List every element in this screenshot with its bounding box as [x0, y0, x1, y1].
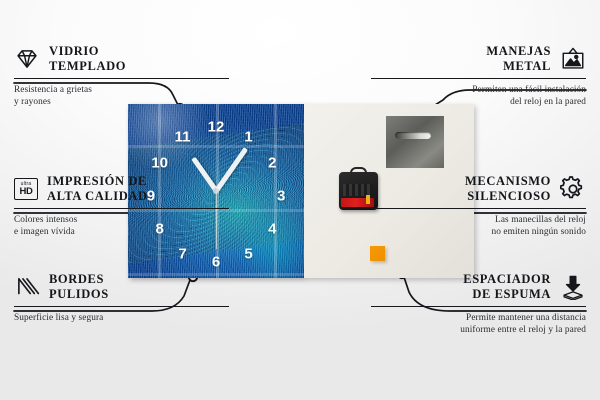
callout-title-line1: BORDES — [49, 272, 109, 287]
ultra-hd-bottom-label: HD — [19, 187, 32, 196]
battery-label — [341, 198, 374, 207]
clock-number-6: 6 — [212, 255, 220, 270]
callout-title-line2: ALTA CALIDAD — [47, 189, 148, 204]
callout-bordes-pulidos: BORDES PULIDOS Superficie lisa y segura — [14, 272, 229, 324]
wall-hanger-icon — [560, 46, 586, 72]
hanger-slot — [395, 132, 431, 139]
callout-description: Superficie lisa y segura — [14, 312, 229, 324]
callout-title-line1: ESPACIADOR — [463, 272, 551, 287]
callout-vidrio-templado: VIDRIO TEMPLADO Resistencia a grietas y … — [14, 44, 229, 109]
clock-number-7: 7 — [178, 246, 186, 261]
callout-desc-line2: uniforme entre el reloj y la pared — [371, 324, 586, 336]
callout-title-line2: DE ESPUMA — [463, 287, 551, 302]
callout-desc-line1: Permite mantener una distancia — [371, 312, 586, 324]
clock-number-3: 3 — [277, 189, 285, 204]
callout-desc-line1: Colores intensos — [14, 214, 229, 226]
callout-description: Permite mantener una distancia uniforme … — [371, 312, 586, 337]
callout-description: Colores intensos e imagen vívida — [14, 214, 229, 239]
callout-desc-line2: no emiten ningún sonido — [371, 226, 586, 238]
callout-title: IMPRESIÓN DE ALTA CALIDAD — [47, 174, 148, 204]
clock-number-2: 2 — [268, 156, 276, 171]
callout-title-line1: MECANISMO — [465, 174, 551, 189]
clock-number-12: 12 — [208, 119, 225, 134]
callout-desc-line1: Superficie lisa y segura — [14, 312, 229, 324]
metal-hanger-plate — [386, 116, 444, 168]
spacer-arrow-icon — [560, 274, 586, 300]
callout-desc-line2: e imagen vívida — [14, 226, 229, 238]
callout-rule — [14, 78, 229, 80]
callout-rule — [371, 78, 586, 80]
gear-icon — [560, 176, 586, 202]
callout-mecanismo-silencioso: MECANISMO SILENCIOSO Las manecillas del … — [371, 174, 586, 239]
callout-description: Resistencia a grietas y rayones — [14, 84, 229, 109]
callout-desc-line1: Resistencia a grietas — [14, 84, 229, 96]
clock-number-4: 4 — [268, 222, 276, 237]
foam-spacer — [370, 246, 385, 261]
callout-rule — [371, 208, 586, 210]
callout-manejas-metal: MANEJAS METAL Permiten una fácil instala… — [371, 44, 586, 109]
callout-title-line1: VIDRIO — [49, 44, 126, 59]
callout-title-line2: TEMPLADO — [49, 59, 126, 74]
callout-rule — [14, 208, 229, 210]
callout-title-line1: MANEJAS — [486, 44, 551, 59]
mechanism-hanging-loop — [350, 167, 367, 176]
callout-title: ESPACIADOR DE ESPUMA — [463, 272, 551, 302]
polished-edges-icon — [14, 274, 40, 300]
ultra-hd-icon: ultra HD — [14, 178, 38, 200]
callout-title-line1: IMPRESIÓN DE — [47, 174, 148, 189]
callout-desc-line1: Las manecillas del reloj — [371, 214, 586, 226]
callout-title: BORDES PULIDOS — [49, 272, 109, 302]
callout-rule — [371, 306, 586, 308]
callout-impresion-alta-calidad: ultra HD IMPRESIÓN DE ALTA CALIDAD Color… — [14, 174, 229, 239]
callout-title: MANEJAS METAL — [486, 44, 551, 74]
callout-title: VIDRIO TEMPLADO — [49, 44, 126, 74]
clock-number-11: 11 — [175, 130, 191, 145]
callout-title-line2: METAL — [486, 59, 551, 74]
callout-description: Permiten una fácil instalación del reloj… — [371, 84, 586, 109]
callout-title-line2: PULIDOS — [49, 287, 109, 302]
callout-desc-line2: del reloj en la pared — [371, 96, 586, 108]
clock-number-10: 10 — [151, 156, 168, 171]
clock-number-5: 5 — [244, 246, 252, 261]
callout-desc-line1: Permiten una fácil instalación — [371, 84, 586, 96]
callout-title-line2: SILENCIOSO — [465, 189, 551, 204]
callout-rule — [14, 306, 229, 308]
callout-title: MECANISMO SILENCIOSO — [465, 174, 551, 204]
callout-desc-line2: y rayones — [14, 96, 229, 108]
clock-number-1: 1 — [244, 130, 252, 145]
diamond-icon — [14, 46, 40, 72]
callout-description: Las manecillas del reloj no emiten ningú… — [371, 214, 586, 239]
callout-espaciador-de-espuma: ESPACIADOR DE ESPUMA Permite mantener un… — [371, 272, 586, 337]
infographic-canvas: 12 1 2 3 4 5 6 7 8 9 10 11 — [0, 0, 600, 400]
